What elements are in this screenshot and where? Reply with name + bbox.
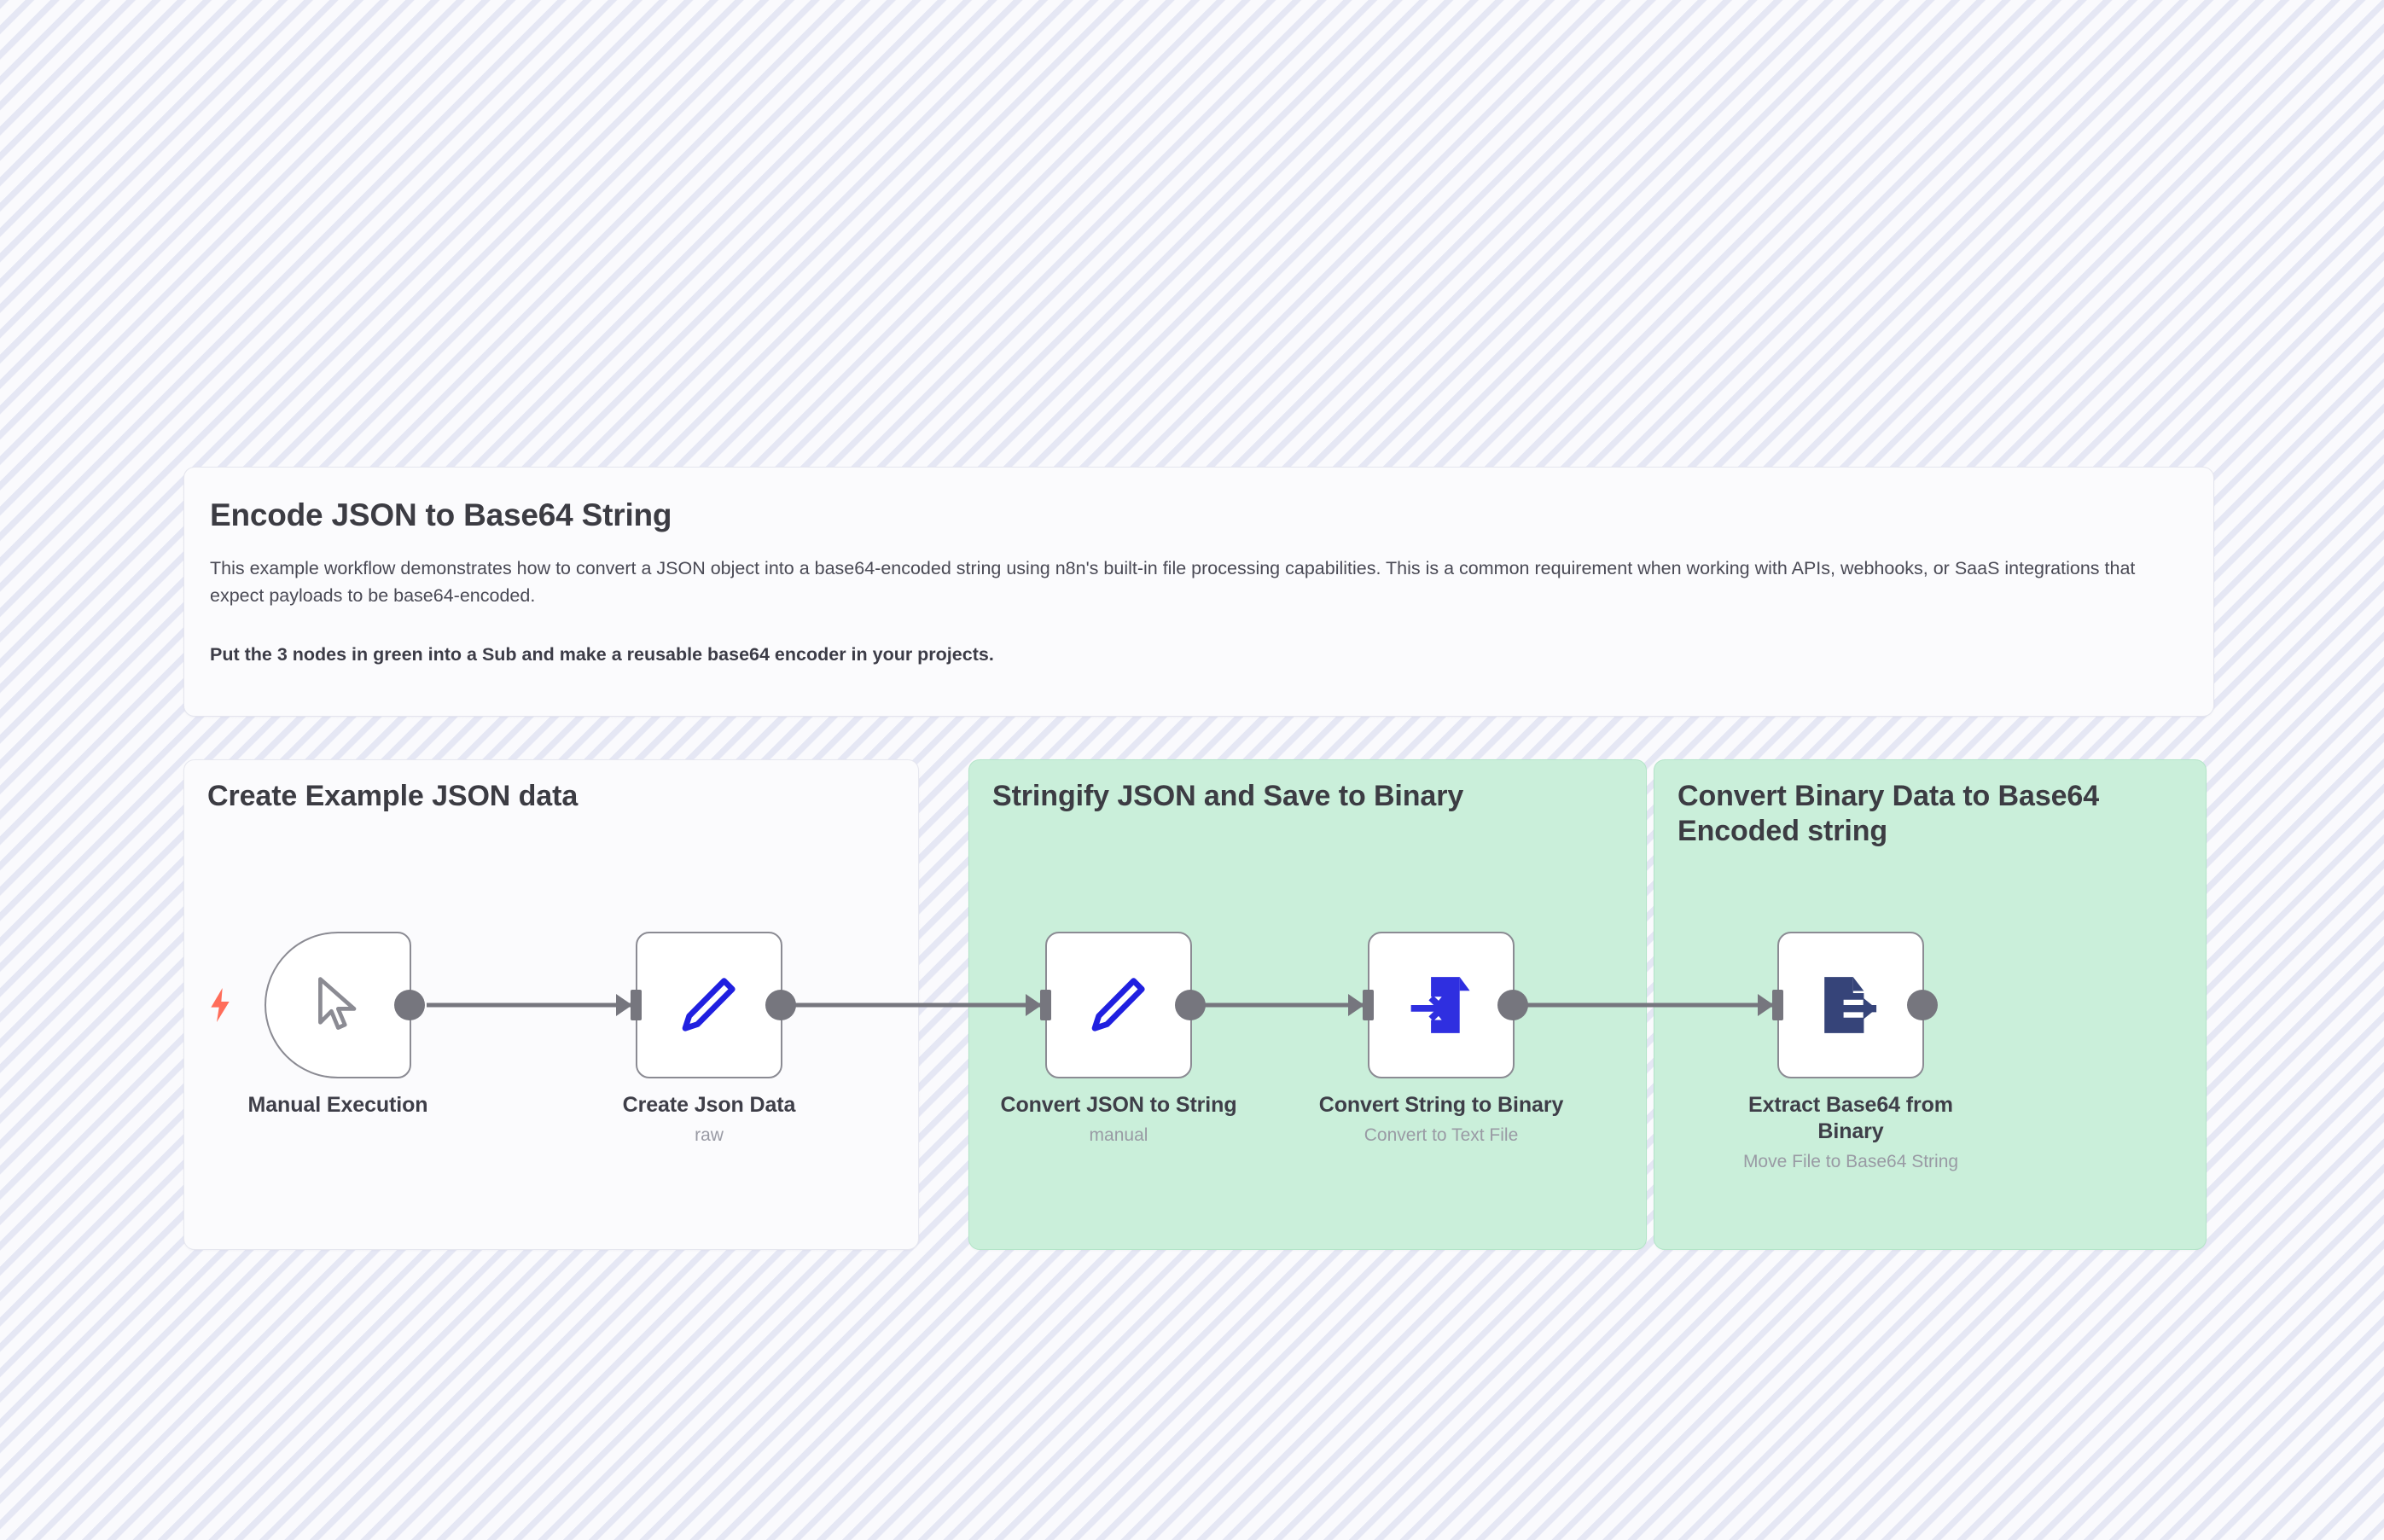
- output-connector[interactable]: [1175, 990, 1206, 1020]
- input-connector[interactable]: [616, 990, 642, 1020]
- node-body[interactable]: [636, 932, 782, 1078]
- file-import-icon: [1405, 969, 1477, 1041]
- lightning-bolt-icon: [206, 986, 234, 1024]
- node-body[interactable]: [265, 932, 411, 1078]
- input-connector[interactable]: [1348, 990, 1374, 1020]
- node-create-json-data[interactable]: Create Json Data raw: [636, 932, 782, 1078]
- node-extract-base64-from-binary[interactable]: Extract Base64 from Binary Move File to …: [1777, 932, 1924, 1078]
- input-connector[interactable]: [1758, 990, 1783, 1020]
- node-body[interactable]: [1368, 932, 1515, 1078]
- node-convert-json-to-string[interactable]: Convert JSON to String manual: [1045, 932, 1192, 1078]
- input-connector[interactable]: [1026, 990, 1051, 1020]
- node-body[interactable]: [1777, 932, 1924, 1078]
- pencil-icon: [672, 968, 746, 1042]
- output-connector[interactable]: [1907, 990, 1938, 1020]
- output-connector[interactable]: [1497, 990, 1528, 1020]
- output-connector[interactable]: [765, 990, 796, 1020]
- file-export-icon: [1815, 969, 1887, 1041]
- pencil-icon: [1082, 968, 1155, 1042]
- output-connector[interactable]: [394, 990, 425, 1020]
- workflow-canvas[interactable]: Encode JSON to Base64 String This exampl…: [0, 0, 2384, 1540]
- node-manual-execution[interactable]: Manual Execution: [265, 932, 411, 1078]
- node-body[interactable]: [1045, 932, 1192, 1078]
- cursor-arrow-icon: [305, 973, 370, 1037]
- connection-wires: [0, 0, 2384, 1540]
- node-convert-string-to-binary[interactable]: Convert String to Binary Convert to Text…: [1368, 932, 1515, 1078]
